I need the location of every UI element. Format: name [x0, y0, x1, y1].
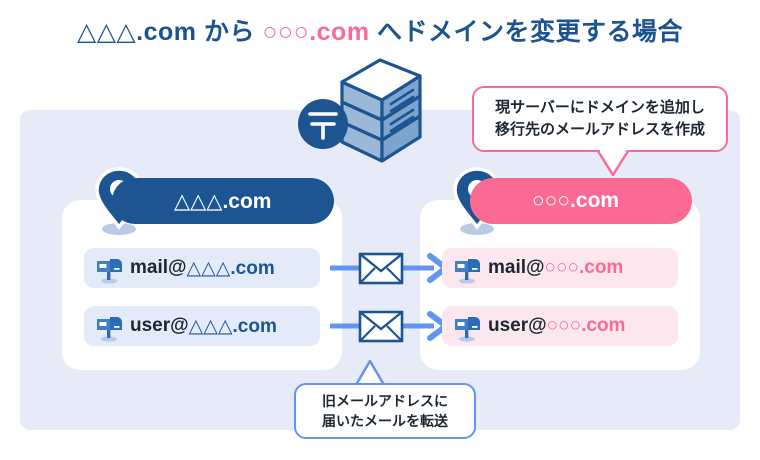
source-mail-local-2: user@	[130, 315, 189, 337]
target-mail-local-1: mail@	[488, 257, 545, 279]
callout-add-domain: 現サーバーにドメインを追加し 移行先のメールアドレスを作成	[472, 86, 728, 152]
server-stack-icon	[296, 58, 426, 163]
target-mail-row-1: mail@○○○.com	[442, 248, 678, 288]
title-suffix-text: へドメインを変更する場合	[370, 18, 683, 46]
source-mail-domain-2: △△△.com	[189, 315, 277, 338]
mailbox-icon	[94, 312, 124, 342]
target-mail-local-2: user@	[488, 315, 547, 337]
target-mail-row-2: user@○○○.com	[442, 306, 678, 346]
title-new-domain-text: ○○○.com	[262, 18, 369, 46]
callout-forward-mail: 旧メールアドレスに 届いたメールを転送	[294, 383, 476, 439]
target-domain-label: ○○○.com	[532, 189, 619, 213]
target-domain-pill: ○○○.com	[470, 178, 692, 224]
target-mail-domain-1: ○○○.com	[545, 257, 624, 279]
mailbox-icon	[452, 312, 482, 342]
title-old-domain-text: △△△.com から	[77, 18, 262, 46]
callout-add-domain-tail	[597, 150, 629, 176]
page-title: △△△.com から ○○○.com へドメインを変更する場合	[0, 12, 760, 48]
target-mail-domain-2: ○○○.com	[547, 315, 626, 337]
mail-forward-connector-1	[330, 248, 450, 288]
callout-add-domain-line2: 移行先のメールアドレスを作成	[495, 119, 705, 141]
callout-forward-mail-line1: 旧メールアドレスに	[322, 391, 448, 411]
mailbox-icon	[452, 254, 482, 284]
mail-forward-connector-2	[330, 306, 450, 346]
source-mail-row-1: mail@△△△.com	[84, 248, 320, 288]
mailbox-icon	[94, 254, 124, 284]
callout-add-domain-line1: 現サーバーにドメインを追加し	[495, 97, 705, 119]
source-mail-row-2: user@△△△.com	[84, 306, 320, 346]
diagram-canvas: △△△.com から ○○○.com へドメインを変更する場合	[0, 0, 760, 460]
callout-forward-mail-line2: 届いたメールを転送	[322, 411, 448, 431]
source-mail-local-1: mail@	[130, 257, 187, 279]
source-domain-pill: △△△.com	[112, 178, 334, 224]
source-mail-domain-1: △△△.com	[187, 257, 275, 280]
source-domain-label: △△△.com	[174, 189, 271, 214]
